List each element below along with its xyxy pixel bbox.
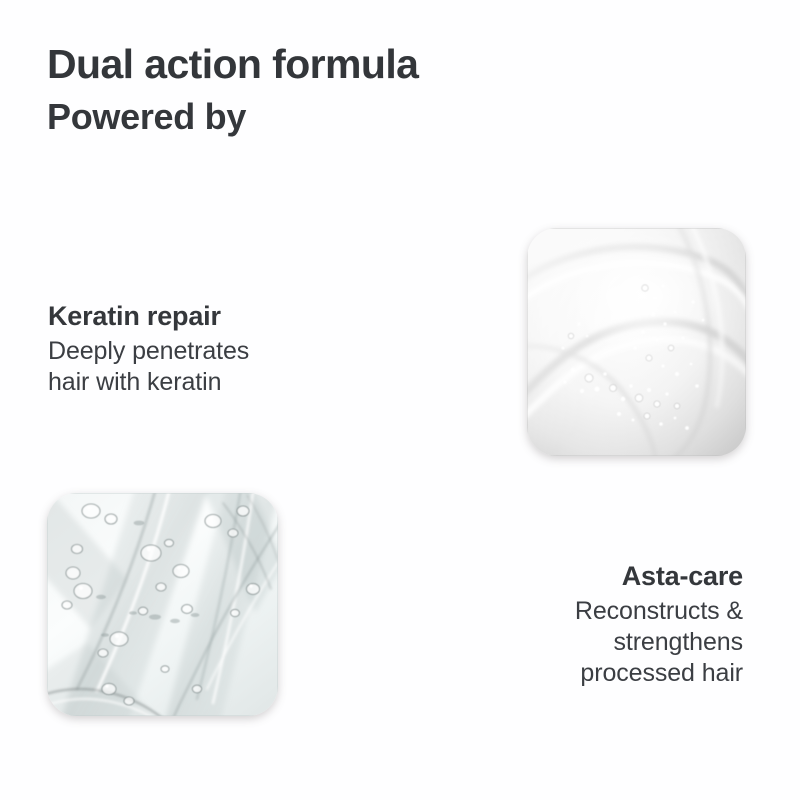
- sub-title: Powered by: [47, 95, 567, 138]
- feature-heading-asta-care: Asta-care: [470, 560, 743, 592]
- asta-care-image-tile: [47, 493, 278, 716]
- feature-asta-care: Asta-care Reconstructs & strengthens pro…: [470, 560, 743, 689]
- gel-texture-cool-streaks-icon: [47, 493, 278, 716]
- feature-description-asta-care: Reconstructs & strengthens processed hai…: [470, 596, 743, 689]
- product-feature-panel: Dual action formula Powered by: [0, 0, 800, 800]
- keratin-repair-image-tile: [527, 228, 746, 456]
- page-title: Dual action formula Powered by: [47, 42, 567, 138]
- feature-keratin-repair: Keratin repair Deeply penetrates hair wi…: [48, 300, 338, 398]
- feature-heading-keratin-repair: Keratin repair: [48, 300, 338, 332]
- feature-description-keratin-repair: Deeply penetrates hair with keratin: [48, 336, 338, 398]
- main-title: Dual action formula: [47, 42, 567, 88]
- gel-texture-clear-bubbles-icon: [527, 228, 746, 456]
